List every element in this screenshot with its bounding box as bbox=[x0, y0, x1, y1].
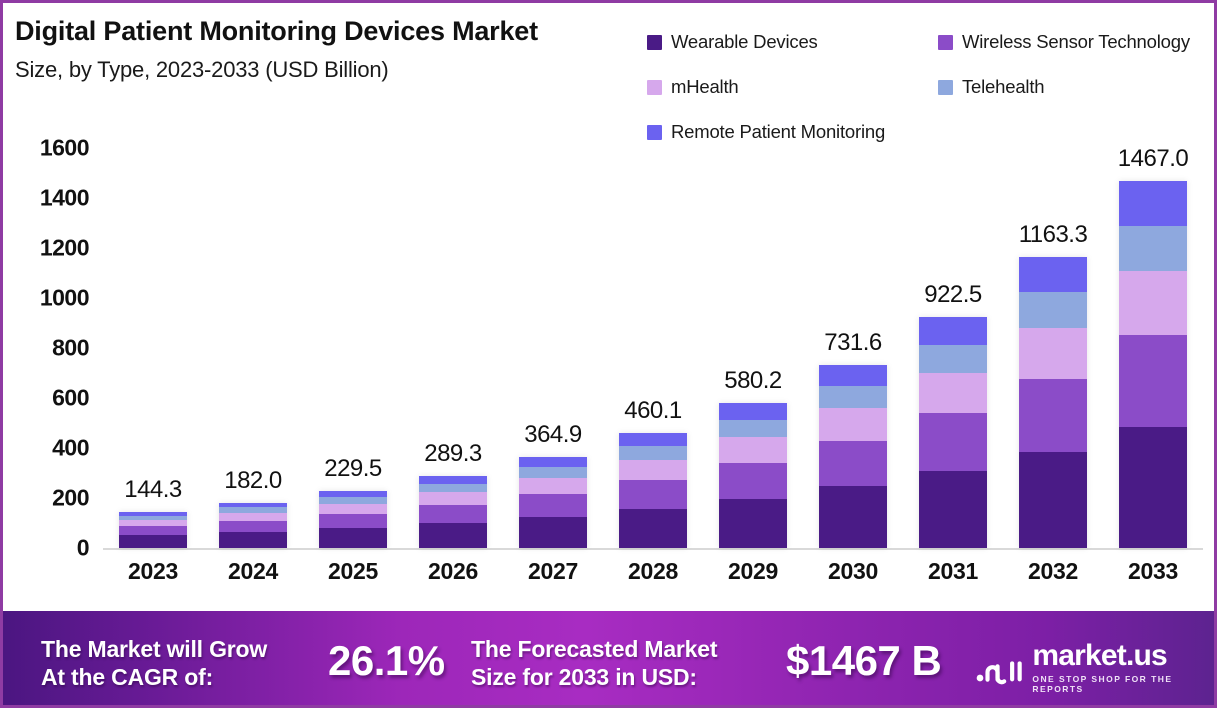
bar-segment[interactable] bbox=[419, 523, 487, 548]
bar-stack[interactable] bbox=[619, 433, 687, 548]
x-axis-tick-label: 2031 bbox=[907, 558, 999, 604]
bar-value-label: 364.9 bbox=[524, 421, 582, 449]
bar-stack[interactable] bbox=[119, 512, 187, 548]
bar-value-label: 731.6 bbox=[824, 329, 882, 357]
bar-value-label: 144.3 bbox=[124, 476, 182, 504]
bar-segment[interactable] bbox=[219, 521, 287, 532]
bar-segment[interactable] bbox=[119, 535, 187, 548]
legend-item[interactable]: Wearable Devices bbox=[647, 31, 818, 53]
bar-stack[interactable] bbox=[1019, 257, 1087, 548]
bar-group[interactable]: 364.9 bbox=[507, 135, 599, 548]
bar-value-label: 460.1 bbox=[624, 397, 682, 425]
bar-segment[interactable] bbox=[519, 494, 587, 517]
bar-segment[interactable] bbox=[1019, 328, 1087, 379]
bar-stack[interactable] bbox=[819, 365, 887, 548]
cagr-label-line1: The Market will Grow bbox=[41, 635, 267, 663]
legend-swatch-icon bbox=[647, 80, 662, 95]
x-axis-tick-label: 2030 bbox=[807, 558, 899, 604]
bar-segment[interactable] bbox=[1119, 427, 1187, 548]
x-axis-tick-label: 2024 bbox=[207, 558, 299, 604]
bar-stack[interactable] bbox=[219, 503, 287, 548]
legend-item-label: Telehealth bbox=[962, 76, 1044, 98]
bar-segment[interactable] bbox=[919, 471, 987, 548]
bar-group[interactable]: 144.3 bbox=[107, 135, 199, 548]
bar-segment[interactable] bbox=[419, 492, 487, 505]
bar-segment[interactable] bbox=[619, 480, 687, 509]
bar-value-label: 922.5 bbox=[924, 281, 982, 309]
forecast-label-line1: The Forecasted Market bbox=[471, 635, 717, 663]
x-axis-tick-label: 2032 bbox=[1007, 558, 1099, 604]
legend-item-label: Wireless Sensor Technology bbox=[962, 31, 1190, 53]
chart-title: Digital Patient Monitoring Devices Marke… bbox=[15, 17, 635, 47]
legend-swatch-icon bbox=[938, 80, 953, 95]
bar-segment[interactable] bbox=[419, 505, 487, 523]
bar-value-label: 229.5 bbox=[324, 455, 382, 483]
x-axis-tick-label: 2026 bbox=[407, 558, 499, 604]
y-axis-tick-label: 1600 bbox=[3, 135, 89, 162]
chart-subtitle: Size, by Type, 2023-2033 (USD Billion) bbox=[15, 57, 635, 83]
bar-segment[interactable] bbox=[819, 365, 887, 386]
bar-stack[interactable] bbox=[1119, 181, 1187, 548]
x-axis-tick-label: 2025 bbox=[307, 558, 399, 604]
bar-segment[interactable] bbox=[519, 478, 587, 494]
x-axis-tick-label: 2023 bbox=[107, 558, 199, 604]
bar-segment[interactable] bbox=[619, 509, 687, 548]
bar-segment[interactable] bbox=[719, 463, 787, 499]
x-axis-tick-label: 2029 bbox=[707, 558, 799, 604]
y-axis-tick-label: 200 bbox=[3, 485, 89, 512]
bar-segment[interactable] bbox=[919, 345, 987, 373]
bar-segment[interactable] bbox=[819, 408, 887, 440]
bar-group[interactable]: 731.6 bbox=[807, 135, 899, 548]
legend-swatch-icon bbox=[647, 35, 662, 50]
bar-segment[interactable] bbox=[819, 486, 887, 548]
x-axis-tick-label: 2027 bbox=[507, 558, 599, 604]
bar-segment[interactable] bbox=[919, 413, 987, 471]
bar-value-label: 1467.0 bbox=[1118, 145, 1188, 173]
market-us-logo-icon bbox=[975, 650, 1023, 686]
bar-segment[interactable] bbox=[819, 441, 887, 487]
y-axis-tick-label: 0 bbox=[3, 535, 89, 562]
y-axis-tick-label: 1200 bbox=[3, 235, 89, 262]
chart-legend: Wearable Devices Wireless Sensor Technol… bbox=[643, 15, 1217, 135]
bar-segment[interactable] bbox=[1119, 335, 1187, 427]
bar-stack[interactable] bbox=[319, 491, 387, 548]
chart-header: Digital Patient Monitoring Devices Marke… bbox=[3, 3, 1217, 135]
x-axis-tick-label: 2033 bbox=[1107, 558, 1199, 604]
bar-group[interactable]: 1163.3 bbox=[1007, 135, 1099, 548]
bar-segment[interactable] bbox=[719, 437, 787, 462]
bar-stack[interactable] bbox=[919, 317, 987, 548]
bar-segment[interactable] bbox=[719, 499, 787, 548]
bar-segment[interactable] bbox=[519, 467, 587, 478]
bar-group[interactable]: 1467.0 bbox=[1107, 135, 1199, 548]
y-axis-tick-label: 600 bbox=[3, 385, 89, 412]
bar-segment[interactable] bbox=[419, 484, 487, 493]
bar-segment[interactable] bbox=[719, 403, 787, 420]
forecast-label: The Forecasted Market Size for 2033 in U… bbox=[471, 635, 717, 691]
bar-segment[interactable] bbox=[419, 476, 487, 484]
bar-series-container: 144.3182.0229.5289.3364.9460.1580.2731.6… bbox=[103, 135, 1203, 548]
bar-stack[interactable] bbox=[719, 403, 787, 548]
x-axis: 2023202420252026202720282029203020312032… bbox=[103, 558, 1203, 604]
bar-group[interactable]: 182.0 bbox=[207, 135, 299, 548]
bar-group[interactable]: 289.3 bbox=[407, 135, 499, 548]
bar-segment[interactable] bbox=[919, 317, 987, 344]
infographic-root: Digital Patient Monitoring Devices Marke… bbox=[0, 0, 1217, 708]
bar-value-label: 1163.3 bbox=[1019, 221, 1088, 249]
bar-segment[interactable] bbox=[1119, 181, 1187, 226]
bar-segment[interactable] bbox=[1019, 292, 1087, 327]
bar-segment[interactable] bbox=[319, 528, 387, 548]
bar-segment[interactable] bbox=[619, 433, 687, 446]
legend-item[interactable]: Wireless Sensor Technology bbox=[938, 31, 1190, 53]
x-axis-tick-label: 2028 bbox=[607, 558, 699, 604]
y-axis-tick-label: 800 bbox=[3, 335, 89, 362]
bar-value-label: 580.2 bbox=[724, 367, 782, 395]
bar-segment[interactable] bbox=[719, 420, 787, 438]
bar-segment[interactable] bbox=[219, 532, 287, 548]
bar-segment[interactable] bbox=[619, 446, 687, 460]
y-axis: 16001400120010008006004002000 bbox=[3, 135, 99, 555]
y-axis-tick-label: 1000 bbox=[3, 285, 89, 312]
bar-segment[interactable] bbox=[1019, 257, 1087, 292]
bar-segment[interactable] bbox=[319, 497, 387, 504]
bar-segment[interactable] bbox=[219, 513, 287, 521]
bar-segment[interactable] bbox=[619, 460, 687, 480]
bar-value-label: 182.0 bbox=[224, 467, 282, 495]
bar-group[interactable]: 922.5 bbox=[907, 135, 999, 548]
legend-swatch-icon bbox=[938, 35, 953, 50]
legend-item-label: mHealth bbox=[671, 76, 739, 98]
bar-segment[interactable] bbox=[819, 386, 887, 408]
y-axis-tick-label: 400 bbox=[3, 435, 89, 462]
bar-segment[interactable] bbox=[319, 514, 387, 528]
bar-group[interactable]: 229.5 bbox=[307, 135, 399, 548]
forecast-value: $1467 B bbox=[786, 637, 941, 685]
bar-segment[interactable] bbox=[519, 517, 587, 548]
bar-segment[interactable] bbox=[319, 504, 387, 514]
bar-stack[interactable] bbox=[419, 476, 487, 548]
legend-item-label: Wearable Devices bbox=[671, 31, 818, 53]
logo-tagline: ONE STOP SHOP FOR THE REPORTS bbox=[1032, 674, 1214, 694]
plot-area: 16001400120010008006004002000 144.3182.0… bbox=[3, 135, 1217, 607]
bar-stack[interactable] bbox=[519, 457, 587, 548]
x-axis-line bbox=[103, 548, 1203, 550]
bar-segment[interactable] bbox=[1119, 226, 1187, 270]
bar-group[interactable]: 460.1 bbox=[607, 135, 699, 548]
cagr-label-line2: At the CAGR of: bbox=[41, 663, 267, 691]
cagr-label: The Market will Grow At the CAGR of: bbox=[41, 635, 267, 691]
bar-segment[interactable] bbox=[519, 457, 587, 467]
legend-item[interactable]: Telehealth bbox=[938, 76, 1044, 98]
forecast-label-line2: Size for 2033 in USD: bbox=[471, 663, 717, 691]
bar-segment[interactable] bbox=[1019, 379, 1087, 452]
bar-segment[interactable] bbox=[1119, 271, 1187, 336]
bar-segment[interactable] bbox=[119, 526, 187, 535]
title-block: Digital Patient Monitoring Devices Marke… bbox=[15, 17, 635, 83]
logo-name: market.us bbox=[1032, 641, 1214, 671]
bar-value-label: 289.3 bbox=[424, 440, 482, 468]
bar-segment[interactable] bbox=[919, 373, 987, 414]
y-axis-tick-label: 1400 bbox=[3, 185, 89, 212]
bar-segment[interactable] bbox=[1019, 452, 1087, 548]
bar-group[interactable]: 580.2 bbox=[707, 135, 799, 548]
cagr-value: 26.1% bbox=[328, 637, 445, 685]
logo-text: market.us ONE STOP SHOP FOR THE REPORTS bbox=[1032, 641, 1214, 694]
footer-banner: The Market will Grow At the CAGR of: 26.… bbox=[3, 611, 1214, 708]
market-us-logo[interactable]: market.us ONE STOP SHOP FOR THE REPORTS bbox=[975, 641, 1214, 694]
legend-item[interactable]: mHealth bbox=[647, 76, 739, 98]
